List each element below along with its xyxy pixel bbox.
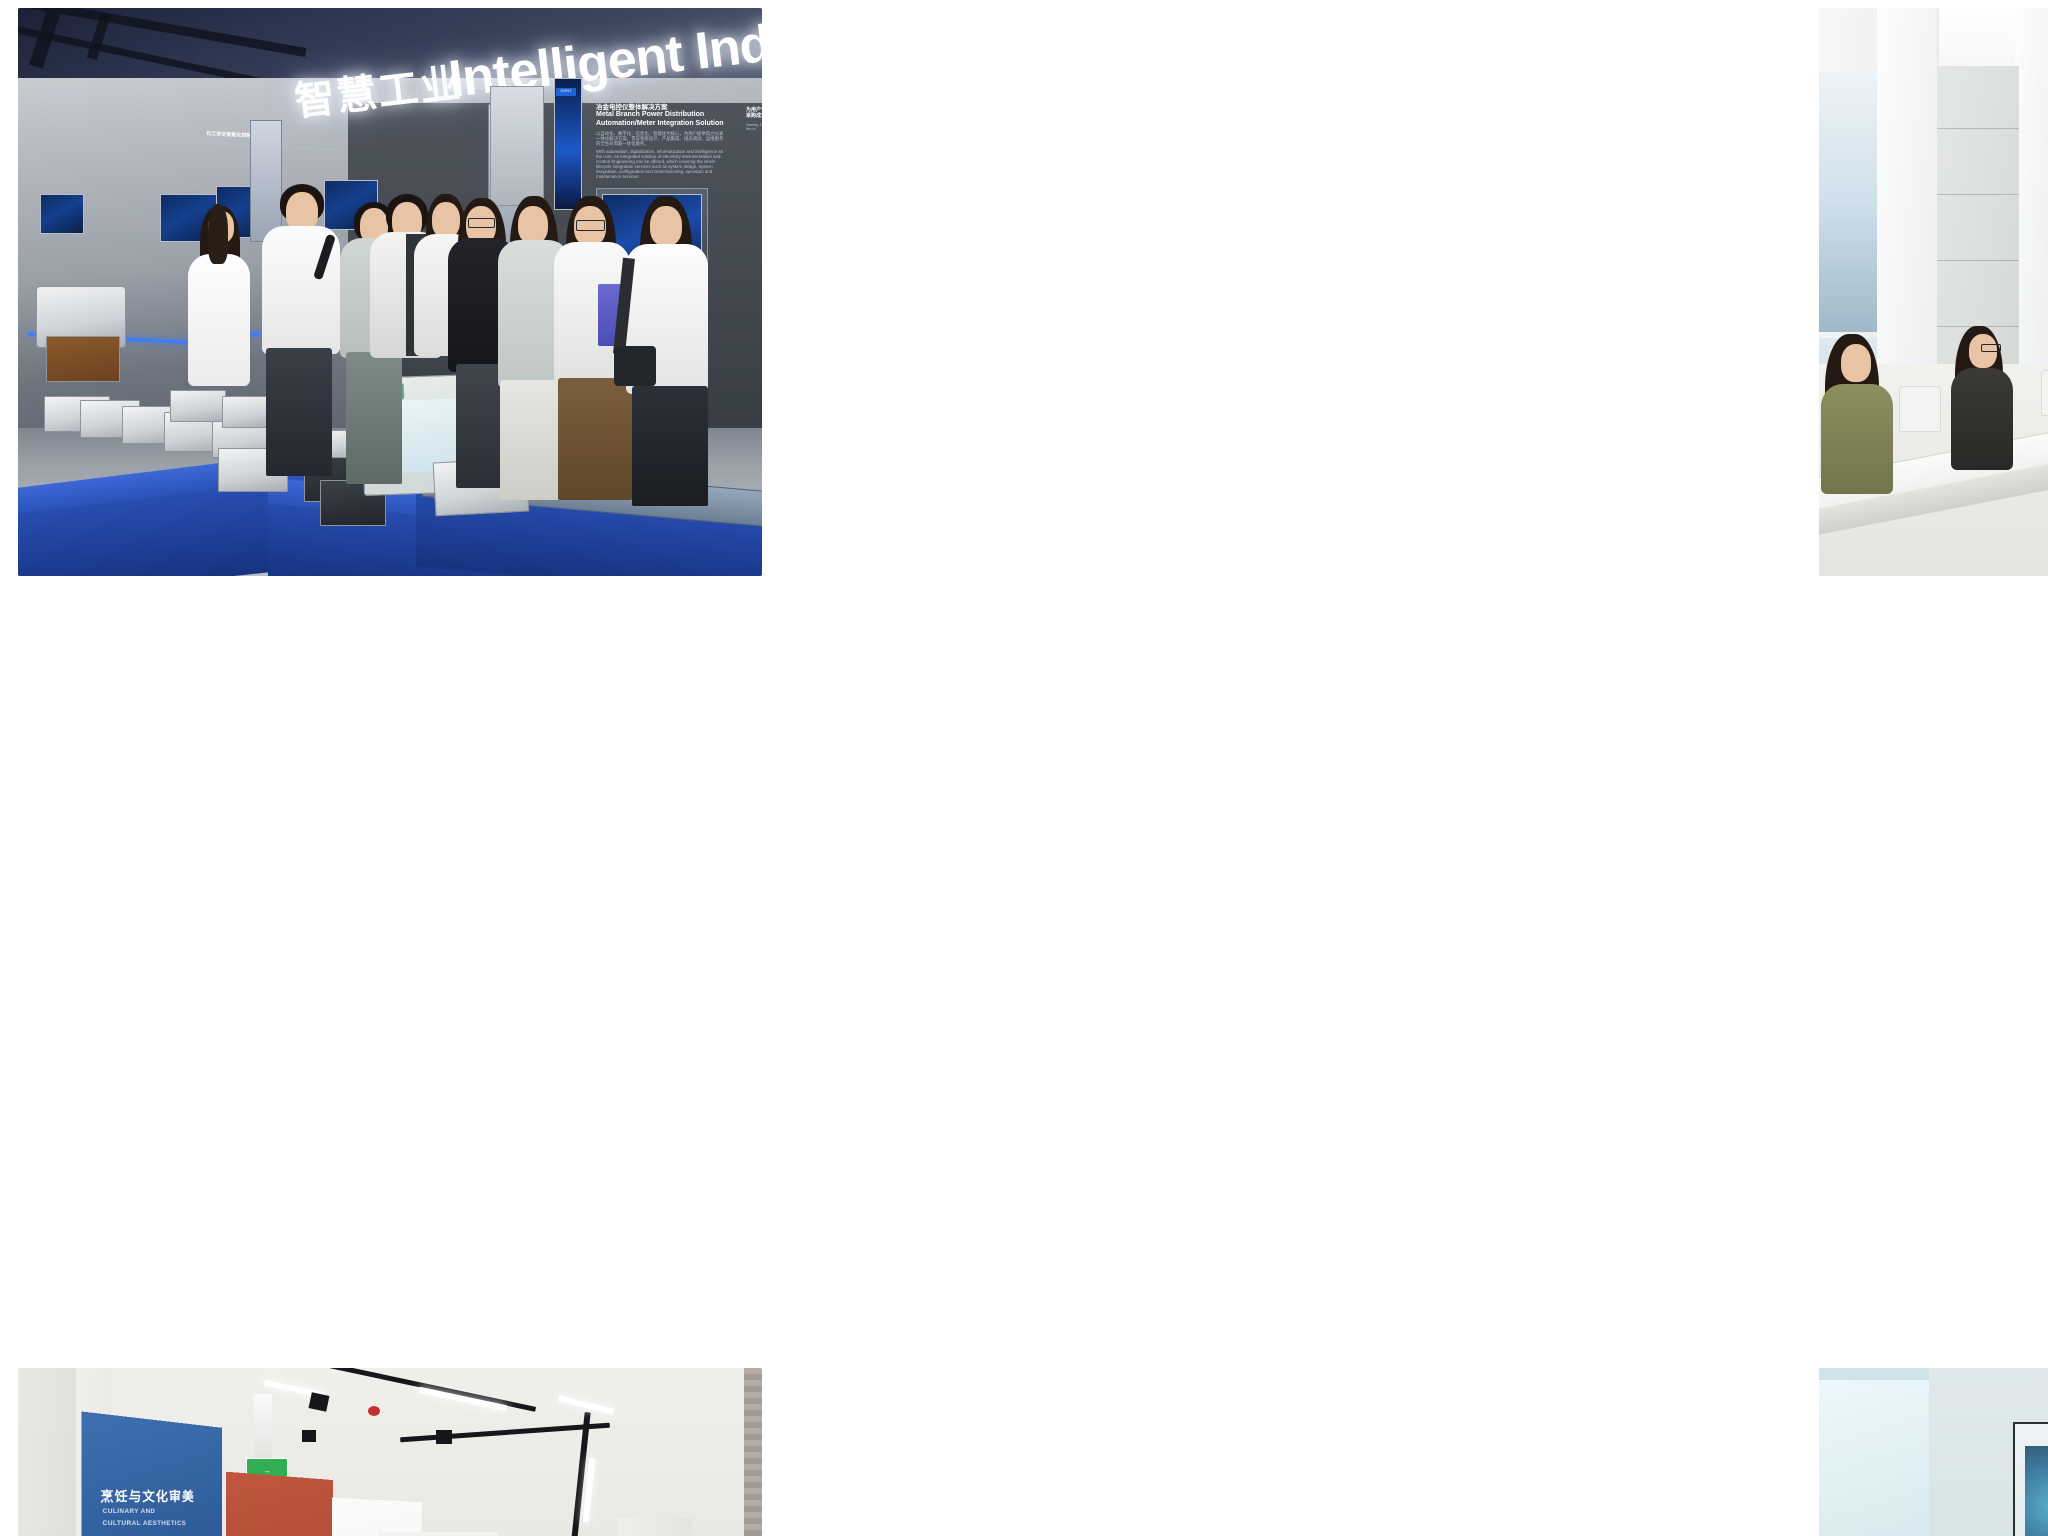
panel-title-en-1: CULINARY AND [103, 1508, 156, 1517]
track-spotlight [309, 1392, 330, 1411]
glasses-icon [576, 220, 605, 231]
corridor-wall-right [618, 1518, 692, 1536]
glasses-icon [468, 218, 495, 228]
chair [1899, 386, 1941, 432]
exhibit-panel-blue [81, 1411, 222, 1536]
photo-meeting-room-presentation: 童涵春 我们的业务覆盖5个领域 药品业务 拥有完整的中药饮片品类 覆盖全国连锁药… [1819, 8, 2048, 576]
handbag [614, 346, 656, 386]
panel-body-en: With automation, digitalization, informa… [596, 149, 726, 179]
collage-cell-top-left: 智慧工业 Intelligent Indu 冶金电控仪整体解决方案 Metal … [0, 0, 1024, 768]
panel-body-cn: 以自动化、数字化、信息化、智能化为核心，为用户提供电力仪表一体化解决方案，贯穿系… [596, 131, 726, 146]
panel-title-en-2: CULTURAL AESTHETICS [102, 1520, 186, 1529]
panel-seam [1937, 260, 2019, 261]
exhibit-panel-white [332, 1498, 422, 1536]
column [1877, 8, 1937, 388]
panel-seam [1937, 128, 2019, 129]
fire-alarm-icon [368, 1406, 380, 1416]
exhibit-panel-red [226, 1472, 333, 1536]
ceiling-duct [254, 1394, 272, 1460]
device-breaker [170, 390, 226, 422]
panel-side-title-cn: 为用户节约：采购成本 [746, 108, 762, 120]
track-spotlight [436, 1430, 452, 1444]
vertical-led-panel [554, 78, 582, 210]
panel-title-cn: 烹饪与文化审美 [100, 1486, 194, 1506]
photo-collage: 智慧工业 Intelligent Indu 冶金电控仪整体解决方案 Metal … [0, 0, 2048, 1536]
track-spotlight [302, 1430, 316, 1442]
panel-side-title-en: Saving 10% of the in [746, 123, 762, 132]
wall-screen [40, 194, 84, 234]
panel-title-en-2: Automation/Meter Integration Solution [596, 120, 736, 128]
collage-cell-bottom-right: Historical of Sofa 沙发史记 世界发展史 A Brief Hi… [1024, 768, 2048, 1536]
glasses-icon [1981, 344, 2001, 352]
window [1819, 72, 1879, 332]
collage-cell-bottom-left: → 烹饪与文化审美 CULINARY AND CULTURAL AESTHETI… [0, 768, 1024, 1536]
panel-title-cn: 冶金电控仪整体解决方案 [596, 104, 736, 111]
kiosk [490, 86, 544, 206]
photo-sofa-history-museum: Historical of Sofa 沙发史记 世界发展史 A Brief Hi… [1819, 1368, 2048, 1536]
collage-cell-top-right: 童涵春 我们的业务覆盖5个领域 药品业务 拥有完整的中药饮片品类 覆盖全国连锁药… [1024, 0, 2048, 768]
photo-industrial-exhibition-hall: 智慧工业 Intelligent Indu 冶金电控仪整体解决方案 Metal … [18, 8, 762, 576]
framed-artwork [2013, 1422, 2048, 1536]
corridor-wall [378, 1532, 498, 1536]
brand-label: CHNT [556, 88, 576, 96]
artwork-image [2025, 1446, 2048, 1536]
window-glass [1819, 1380, 1929, 1536]
panel-title-en-1: Metal Branch Power Distribution [596, 111, 736, 119]
column [2015, 8, 2048, 368]
exit-arrow-icon: → [263, 1466, 271, 1475]
photo-culinary-culture-corridor: → 烹饪与文化审美 CULINARY AND CULTURAL AESTHETI… [18, 1368, 762, 1536]
panel-seam [1937, 194, 2019, 195]
stone-wall [744, 1368, 762, 1536]
chair [2041, 370, 2048, 416]
device-coil [46, 336, 120, 382]
display-cabinet [250, 120, 282, 242]
